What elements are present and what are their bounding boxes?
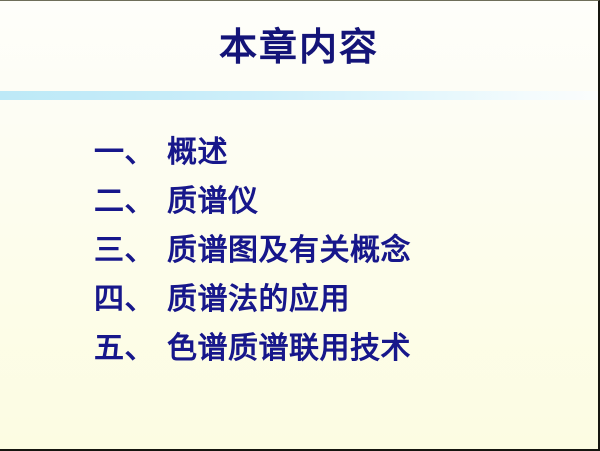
list-item-label: 质谱仪 bbox=[167, 179, 259, 224]
list-item-index: 五、 bbox=[94, 326, 155, 371]
list-item-index: 三、 bbox=[94, 228, 155, 273]
list-item-index: 四、 bbox=[94, 277, 155, 322]
list-item: 二、质谱仪 bbox=[94, 179, 578, 228]
list-item-label: 概述 bbox=[167, 130, 228, 175]
page-title: 本章内容 bbox=[219, 27, 379, 69]
presentation-slide: 本章内容 一、概述 二、质谱仪 三、质谱图及有关概念 四、质谱法的应用 五、色谱… bbox=[0, 0, 600, 451]
list-item-index: 二、 bbox=[94, 179, 155, 224]
list-item-label: 色谱质谱联用技术 bbox=[167, 326, 411, 371]
title-divider-rule bbox=[0, 91, 598, 100]
list-item: 四、质谱法的应用 bbox=[94, 277, 578, 326]
agenda-list: 一、概述 二、质谱仪 三、质谱图及有关概念 四、质谱法的应用 五、色谱质谱联用技… bbox=[94, 130, 578, 375]
list-item: 三、质谱图及有关概念 bbox=[94, 228, 578, 277]
list-item-index: 一、 bbox=[94, 130, 155, 175]
list-item-label: 质谱图及有关概念 bbox=[167, 228, 411, 273]
title-area: 本章内容 bbox=[0, 27, 598, 69]
list-item-label: 质谱法的应用 bbox=[167, 277, 350, 322]
list-item: 五、色谱质谱联用技术 bbox=[94, 326, 578, 375]
list-item: 一、概述 bbox=[94, 130, 578, 179]
